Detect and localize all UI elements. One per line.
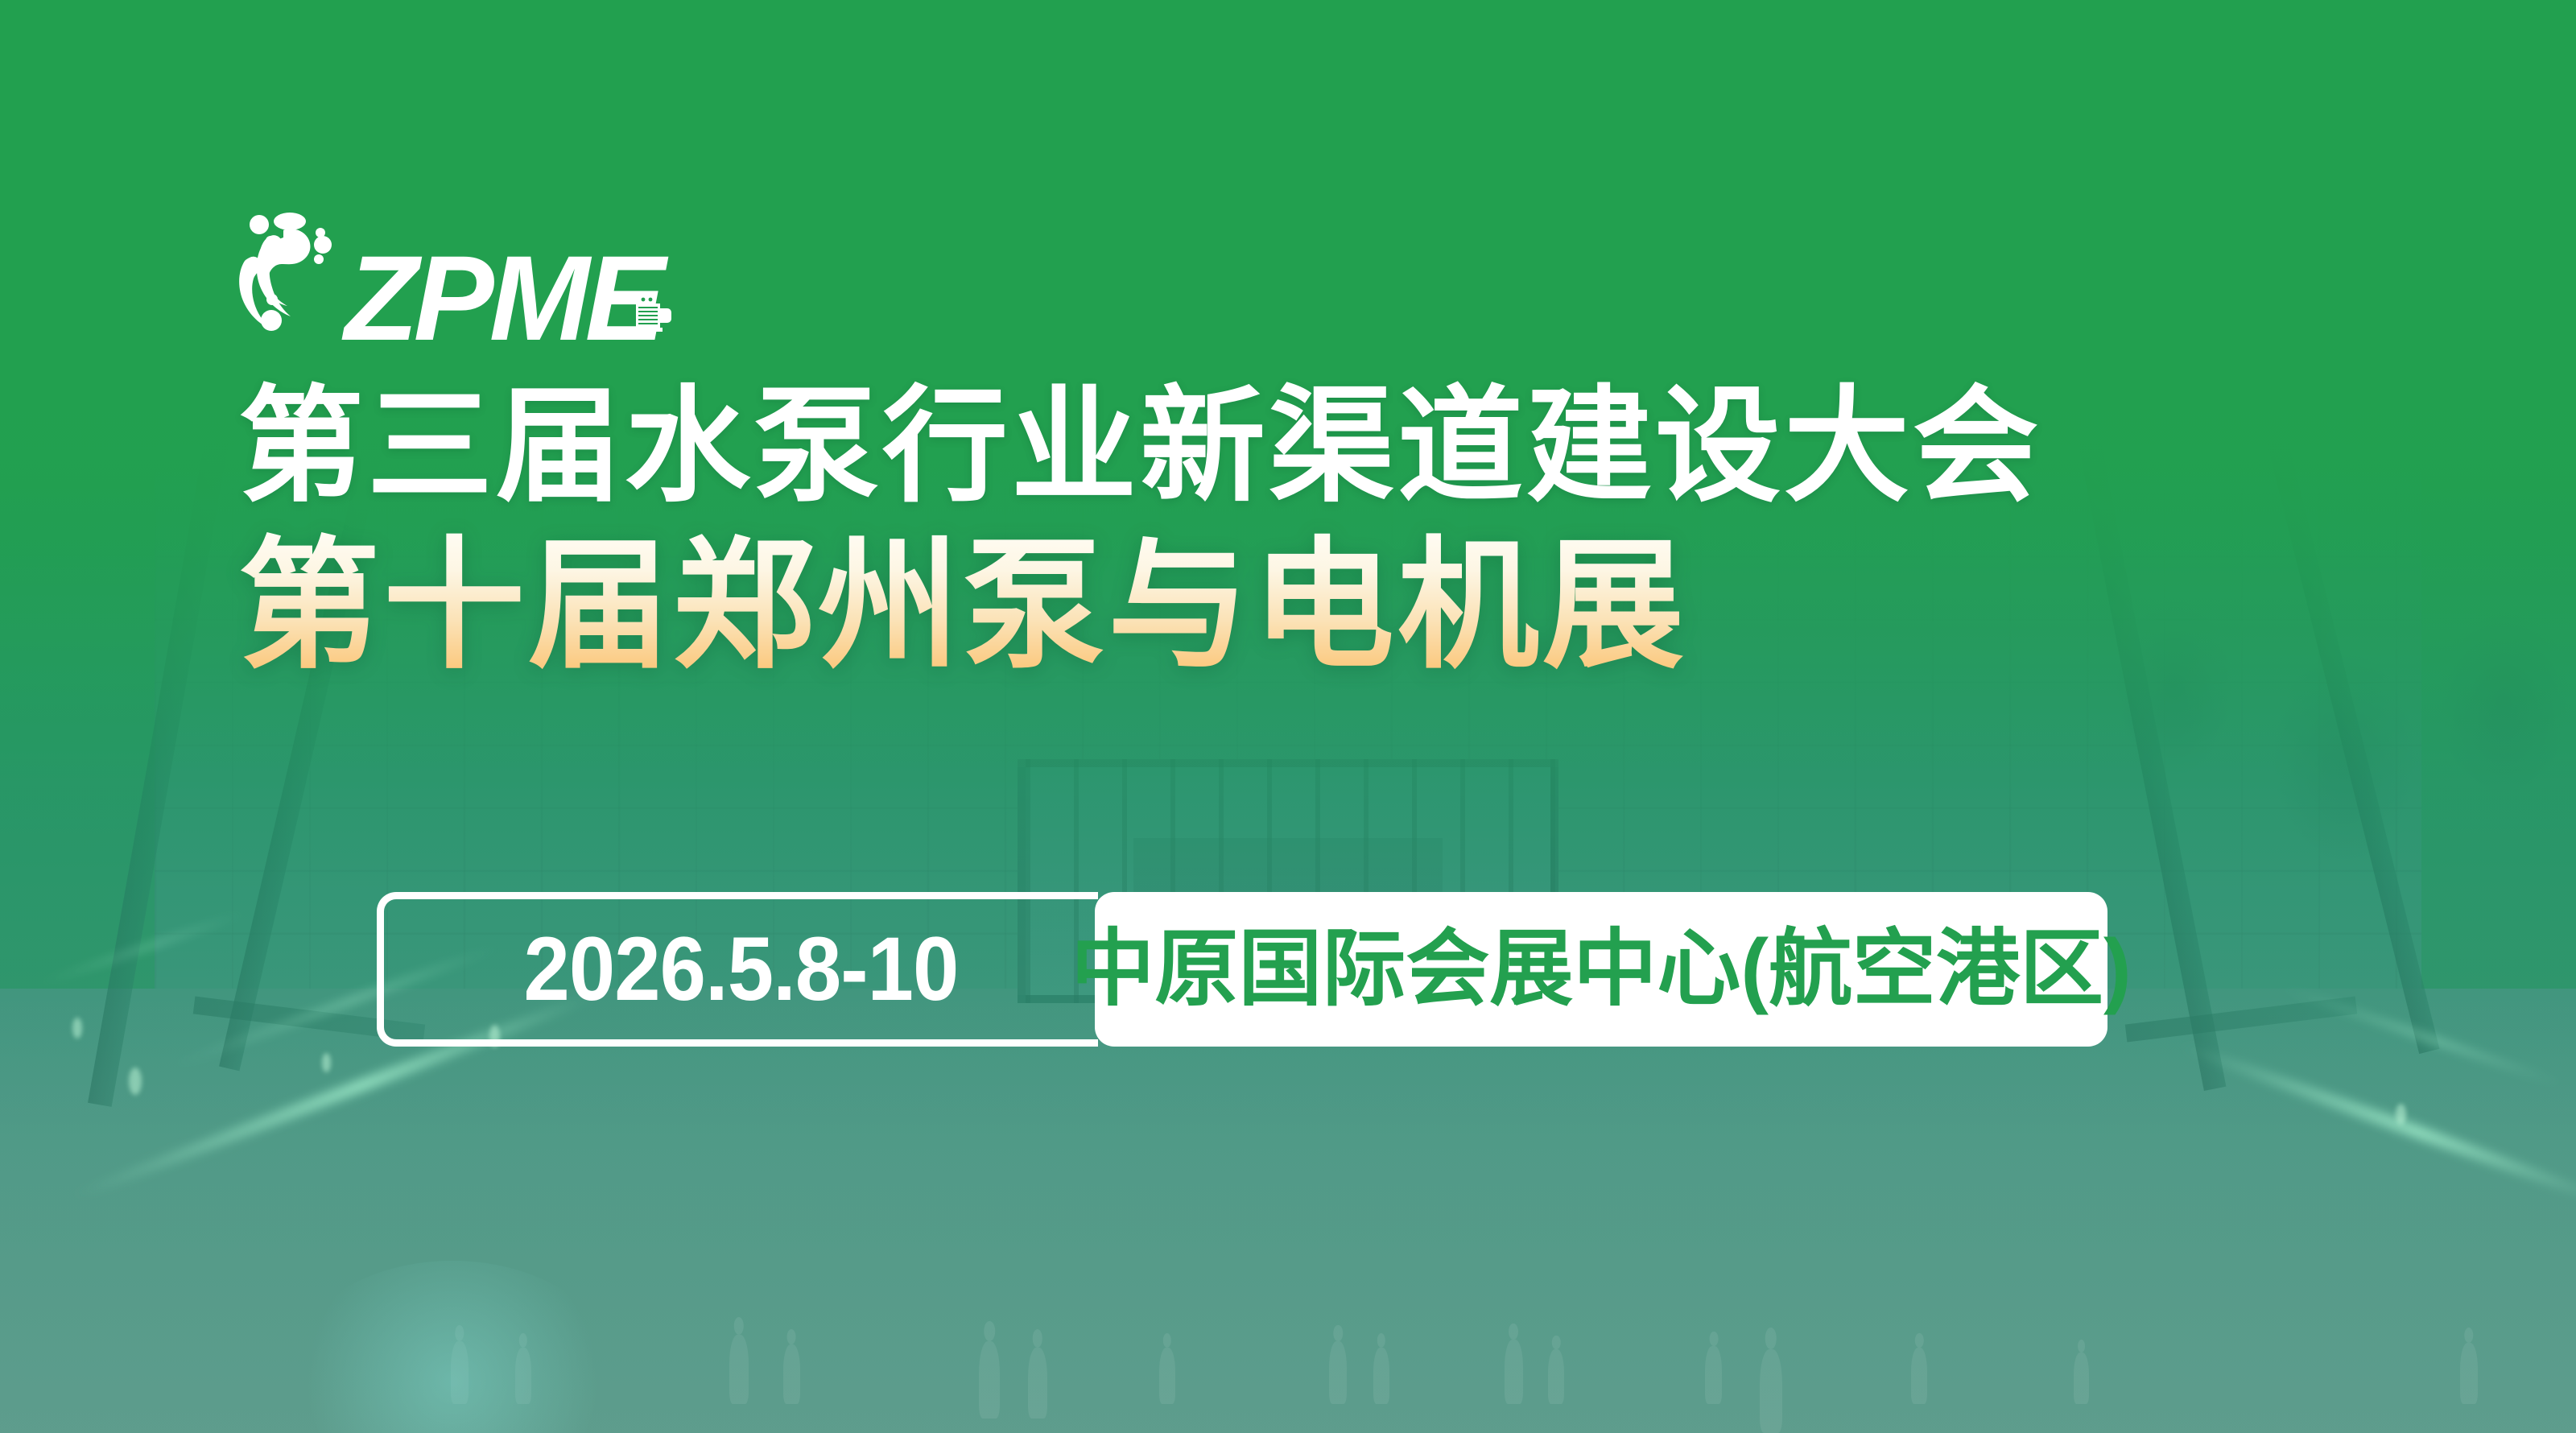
event-date: 2026.5.8-10 bbox=[524, 924, 959, 1014]
headline-line-2: 第十届郑州泵与电机展 bbox=[238, 524, 2041, 688]
event-venue-pill: 中原国际会展中心(航空港区) bbox=[1095, 892, 2107, 1047]
headline-line-1: 第三届水泵行业新渠道建设大会 bbox=[238, 377, 2041, 518]
event-info-bar: 2026.5.8-10 中原国际会展中心(航空港区) bbox=[377, 892, 2107, 1047]
water-splash-icon bbox=[232, 208, 336, 353]
event-banner: ZPME 第三届水泵行业新渠道建设大会 第十届郑州泵与电机展 bbox=[0, 0, 2576, 1433]
headline-block: 第三届水泵行业新渠道建设大会 第十届郑州泵与电机展 bbox=[238, 377, 2041, 688]
logo-wordmark: ZPME bbox=[345, 237, 661, 358]
electric-motor-icon bbox=[629, 291, 679, 341]
zpme-logo: ZPME bbox=[232, 208, 719, 353]
banner-content: ZPME 第三届水泵行业新渠道建设大会 第十届郑州泵与电机展 bbox=[0, 0, 2576, 1433]
event-date-box: 2026.5.8-10 bbox=[377, 892, 1098, 1047]
event-venue: 中原国际会展中心(航空港区) bbox=[1071, 927, 2131, 1011]
